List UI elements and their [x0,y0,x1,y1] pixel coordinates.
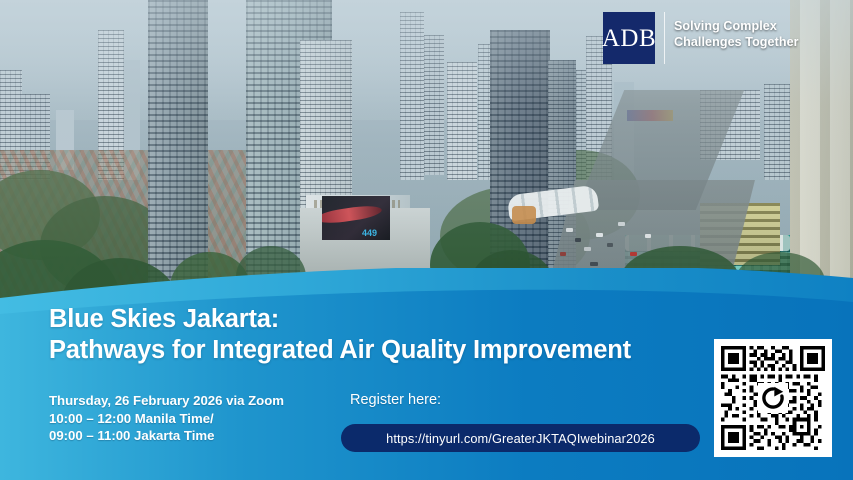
adb-branding: ADB Solving Complex Challenges Together [603,12,799,64]
registration-url: https://tinyurl.com/GreaterJKTAQIwebinar… [386,431,655,446]
adb-logo-text: ADB [602,26,656,51]
qr-code-frame [714,339,832,457]
webinar-schedule: Thursday, 26 February 2026 via Zoom 10:0… [49,392,284,445]
register-label: Register here: [350,392,441,408]
refresh-arrow-glyph [760,385,786,411]
webinar-title: Blue Skies Jakarta: Pathways for Integra… [49,304,631,366]
refresh-arrow-icon [758,383,788,413]
adb-tagline: Solving Complex Challenges Together [674,12,799,50]
logo-divider [664,12,665,64]
webinar-poster: 449 ADB Solving Complex Challenges Toget… [0,0,853,480]
qr-code[interactable] [721,346,825,450]
registration-link-button[interactable]: https://tinyurl.com/GreaterJKTAQIwebinar… [341,424,700,452]
adb-logo: ADB [603,12,655,64]
